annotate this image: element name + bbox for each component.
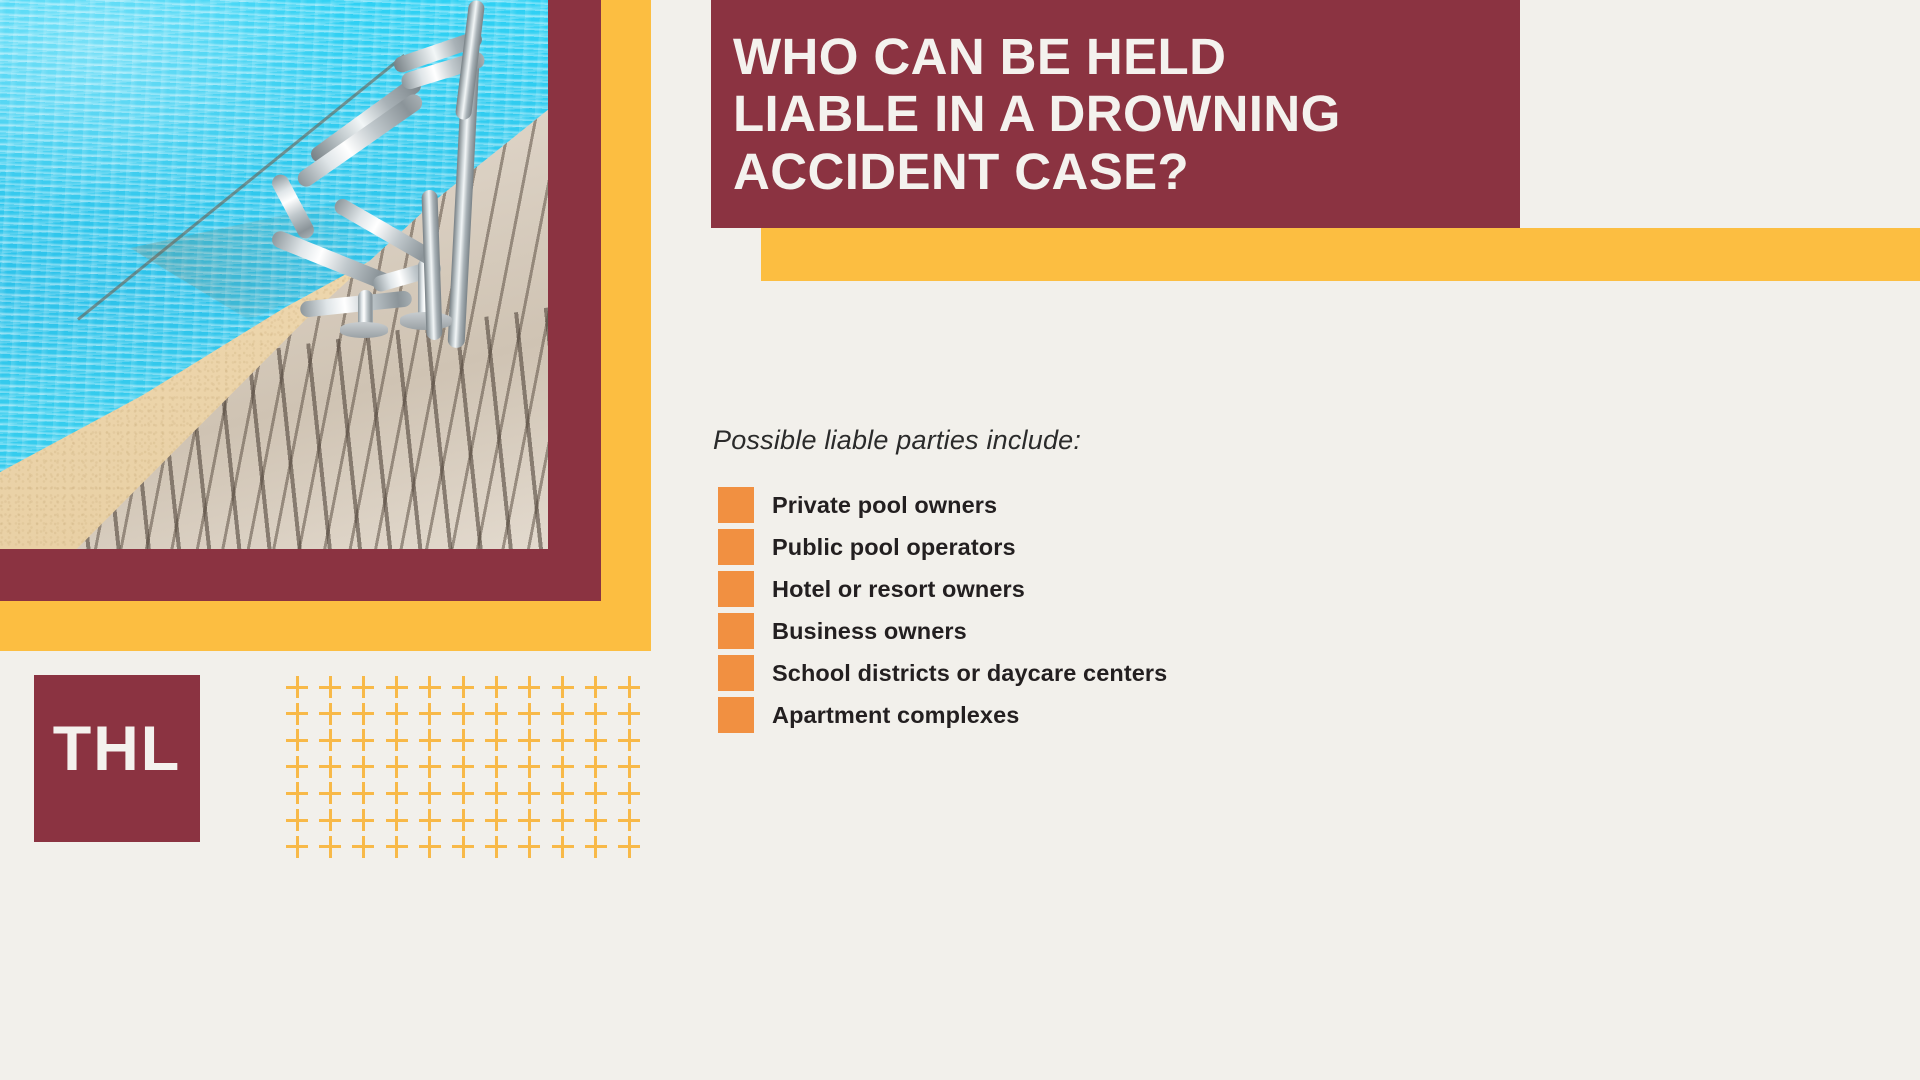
list-item-label: Business owners — [772, 618, 967, 645]
bullet-square-icon — [718, 697, 754, 733]
title-banner: WHO CAN BE HELDLIABLE IN A DROWNINGACCID… — [711, 0, 1520, 228]
plus-icon — [352, 729, 374, 751]
pool-photo — [0, 0, 548, 549]
title-line-3: ACCIDENT CASE? — [733, 143, 1189, 200]
list-item: Hotel or resort owners — [718, 568, 1478, 610]
list-item: Apartment complexes — [718, 694, 1478, 736]
plus-icon — [452, 809, 474, 831]
plus-icon — [419, 836, 441, 858]
plus-icon — [552, 756, 574, 778]
plus-icon — [419, 782, 441, 804]
plus-icon — [585, 676, 607, 698]
list-item: Public pool operators — [718, 526, 1478, 568]
plus-icon — [386, 836, 408, 858]
list-item: School districts or daycare centers — [718, 652, 1478, 694]
plus-icon — [319, 809, 341, 831]
plus-icon — [585, 836, 607, 858]
plus-icon — [352, 756, 374, 778]
ladder-foot-plate-mid — [340, 322, 388, 338]
plus-icon — [485, 729, 507, 751]
plus-icon — [485, 782, 507, 804]
plus-icon — [452, 703, 474, 725]
plus-icon — [452, 836, 474, 858]
intro-label: Possible liable parties include: — [713, 425, 1081, 456]
plus-icon — [319, 703, 341, 725]
plus-icon — [552, 703, 574, 725]
plus-icon — [518, 703, 540, 725]
plus-icon — [319, 782, 341, 804]
plus-icon — [286, 836, 308, 858]
plus-icon — [618, 756, 640, 778]
title-line-1: WHO CAN BE HELD — [733, 28, 1226, 85]
plus-icon — [452, 756, 474, 778]
plus-icon — [585, 782, 607, 804]
plus-icon — [319, 729, 341, 751]
plus-icon — [319, 836, 341, 858]
plus-icon — [352, 809, 374, 831]
list-item-label: School districts or daycare centers — [772, 660, 1167, 687]
plus-icon — [386, 703, 408, 725]
plus-icon — [286, 756, 308, 778]
list-item-label: Hotel or resort owners — [772, 576, 1025, 603]
plus-icon — [485, 836, 507, 858]
left-photo-composition — [0, 0, 651, 651]
plus-icon — [386, 729, 408, 751]
plus-icon — [618, 703, 640, 725]
plus-icon — [352, 782, 374, 804]
plus-icon — [352, 703, 374, 725]
plus-icon — [386, 782, 408, 804]
list-item: Business owners — [718, 610, 1478, 652]
plus-icon — [618, 729, 640, 751]
plus-icon — [518, 782, 540, 804]
list-item: Private pool owners — [718, 484, 1478, 526]
plus-icon — [618, 676, 640, 698]
plus-icon — [618, 809, 640, 831]
plus-icon — [552, 809, 574, 831]
list-item-label: Apartment complexes — [772, 702, 1019, 729]
plus-icon — [386, 809, 408, 831]
plus-icon — [552, 836, 574, 858]
plus-icon — [518, 676, 540, 698]
plus-icon — [286, 809, 308, 831]
plus-icon — [518, 809, 540, 831]
thl-logo: THL — [34, 675, 200, 842]
plus-icon — [286, 676, 308, 698]
plus-icon — [286, 782, 308, 804]
plus-icon — [485, 703, 507, 725]
plus-icon — [618, 836, 640, 858]
plus-icon — [319, 676, 341, 698]
liable-parties-list: Private pool owners Public pool operator… — [718, 484, 1478, 736]
list-item-label: Private pool owners — [772, 492, 997, 519]
yellow-accent-bar — [761, 228, 1920, 281]
plus-icon — [518, 729, 540, 751]
plus-icon — [485, 809, 507, 831]
plus-icon — [585, 809, 607, 831]
plus-icon — [485, 756, 507, 778]
plus-icon — [485, 676, 507, 698]
bullet-square-icon — [718, 613, 754, 649]
plus-icon — [585, 703, 607, 725]
plus-icon — [419, 703, 441, 725]
plus-icon — [419, 729, 441, 751]
plus-icon — [419, 756, 441, 778]
plus-icon — [452, 782, 474, 804]
list-item-label: Public pool operators — [772, 534, 1016, 561]
plus-icon — [386, 756, 408, 778]
logo-text: THL — [53, 718, 181, 781]
bullet-square-icon — [718, 529, 754, 565]
plus-icon — [286, 729, 308, 751]
plus-icon — [618, 782, 640, 804]
plus-icon — [419, 676, 441, 698]
plus-icon — [452, 676, 474, 698]
title-line-2: LIABLE IN A DROWNING — [733, 85, 1341, 142]
cross-pattern-decoration — [286, 676, 654, 860]
bullet-square-icon — [718, 571, 754, 607]
plus-icon — [552, 676, 574, 698]
bullet-square-icon — [718, 655, 754, 691]
page-title: WHO CAN BE HELDLIABLE IN A DROWNINGACCID… — [711, 28, 1341, 199]
plus-icon — [419, 809, 441, 831]
plus-icon — [585, 729, 607, 751]
plus-icon — [352, 836, 374, 858]
plus-icon — [286, 703, 308, 725]
plus-icon — [518, 836, 540, 858]
plus-icon — [319, 756, 341, 778]
plus-icon — [585, 756, 607, 778]
plus-icon — [552, 729, 574, 751]
plus-icon — [518, 756, 540, 778]
bullet-square-icon — [718, 487, 754, 523]
plus-icon — [386, 676, 408, 698]
plus-icon — [352, 676, 374, 698]
plus-icon — [552, 782, 574, 804]
plus-icon — [452, 729, 474, 751]
